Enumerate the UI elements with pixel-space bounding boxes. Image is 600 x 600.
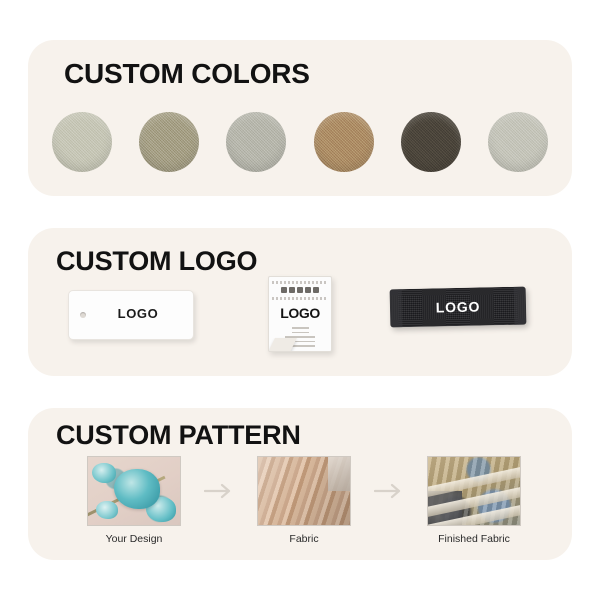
color-swatch-5[interactable] [488,112,548,172]
custom-colors-card: CUSTOM COLORS [28,40,572,196]
custom-pattern-title: CUSTOM PATTERN [56,420,301,451]
woven-label-logo-text: LOGO [436,299,481,316]
finished-fabric-thumbnail [427,456,521,526]
your-design-thumbnail [87,456,181,526]
flow-caption-finished-fabric: Finished Fabric [438,533,510,545]
flow-caption-fabric: Fabric [289,533,318,545]
hang-tag-logo-text: LOGO [69,306,193,321]
custom-colors-title: CUSTOM COLORS [64,58,310,90]
infographic-page: CUSTOM COLORS CUSTOM LOGO LOGO LOGO [0,0,600,600]
care-symbols-icon [269,287,331,293]
color-swatch-4[interactable] [401,112,461,172]
color-swatch-0[interactable] [52,112,112,172]
flow-step-your-design[interactable]: Your Design [86,456,182,545]
flow-caption-your-design: Your Design [106,533,163,545]
arrow-right-icon-1 [199,456,239,526]
care-label-stitch-top-icon [272,281,328,284]
custom-pattern-card: CUSTOM PATTERN Your Design [28,408,572,560]
flow-step-finished-fabric[interactable]: Finished Fabric [426,456,522,545]
color-swatch-2[interactable] [226,112,286,172]
care-label-sample[interactable]: LOGO [268,276,332,352]
color-swatch-1[interactable] [139,112,199,172]
care-label-stitch-mid-icon [272,297,328,300]
woven-label-sample[interactable]: LOGO [390,287,527,328]
fabric-thumbnail [257,456,351,526]
hang-tag-sample[interactable]: LOGO [68,290,194,340]
arrow-right-icon-2 [369,456,409,526]
color-swatch-row [52,110,548,174]
color-swatch-3[interactable] [314,112,374,172]
custom-logo-title: CUSTOM LOGO [56,246,257,277]
care-label-fold-corner [268,338,297,352]
custom-logo-card: CUSTOM LOGO LOGO LOGO LOGO [28,228,572,376]
care-label-logo-text: LOGO [269,305,331,321]
pattern-flow: Your Design Fabric [86,456,522,545]
flow-step-fabric[interactable]: Fabric [256,456,352,545]
